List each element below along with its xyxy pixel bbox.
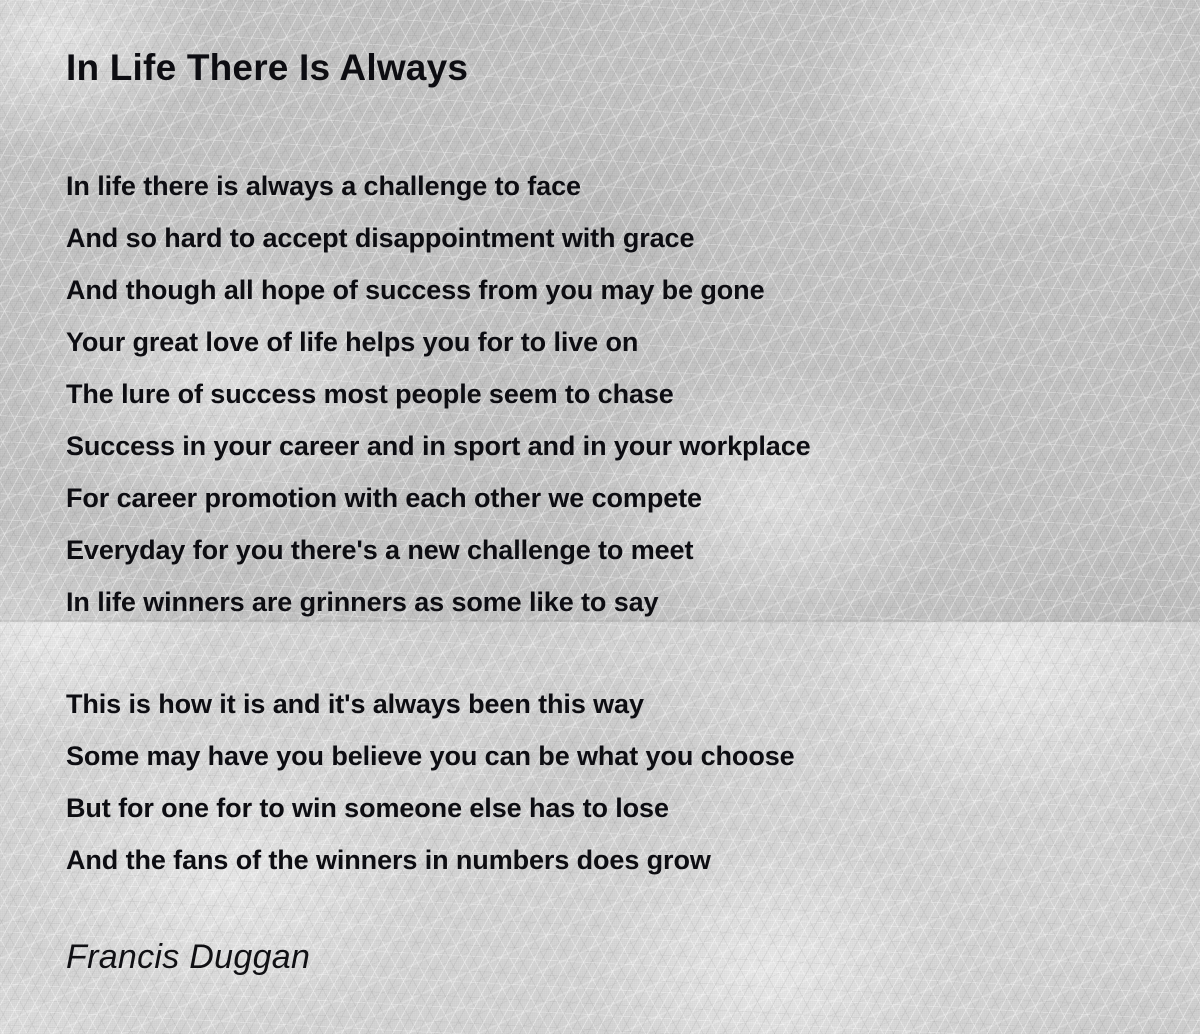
- poem-line: But for one for to win someone else has …: [66, 782, 1126, 834]
- poem-content: In Life There Is Always In life there is…: [0, 0, 1200, 1034]
- poem-line: Your great love of life helps you for to…: [66, 316, 1126, 368]
- poem-line: And so hard to accept disappointment wit…: [66, 212, 1126, 264]
- poem-image: In Life There Is Always In life there is…: [0, 0, 1200, 1034]
- poem-line: Everyday for you there's a new challenge…: [66, 524, 1126, 576]
- poem-line: And though all hope of success from you …: [66, 264, 1126, 316]
- poem-line: For career promotion with each other we …: [66, 472, 1126, 524]
- poem-line: In life winners are grinners as some lik…: [66, 576, 1126, 628]
- poem-line: Success in your career and in sport and …: [66, 420, 1126, 472]
- poem-author: Francis Duggan: [66, 938, 310, 977]
- poem-line: The lure of success most people seem to …: [66, 368, 1126, 420]
- poem-line: Some may have you believe you can be wha…: [66, 730, 1126, 782]
- poem-line: This is how it is and it's always been t…: [66, 678, 1126, 730]
- poem-title: In Life There Is Always: [66, 47, 468, 89]
- poem-stanza-1: In life there is always a challenge to f…: [66, 160, 1126, 628]
- poem-line: And the fans of the winners in numbers d…: [66, 834, 1126, 886]
- poem-line: In life there is always a challenge to f…: [66, 160, 1126, 212]
- poem-stanza-2: This is how it is and it's always been t…: [66, 678, 1126, 886]
